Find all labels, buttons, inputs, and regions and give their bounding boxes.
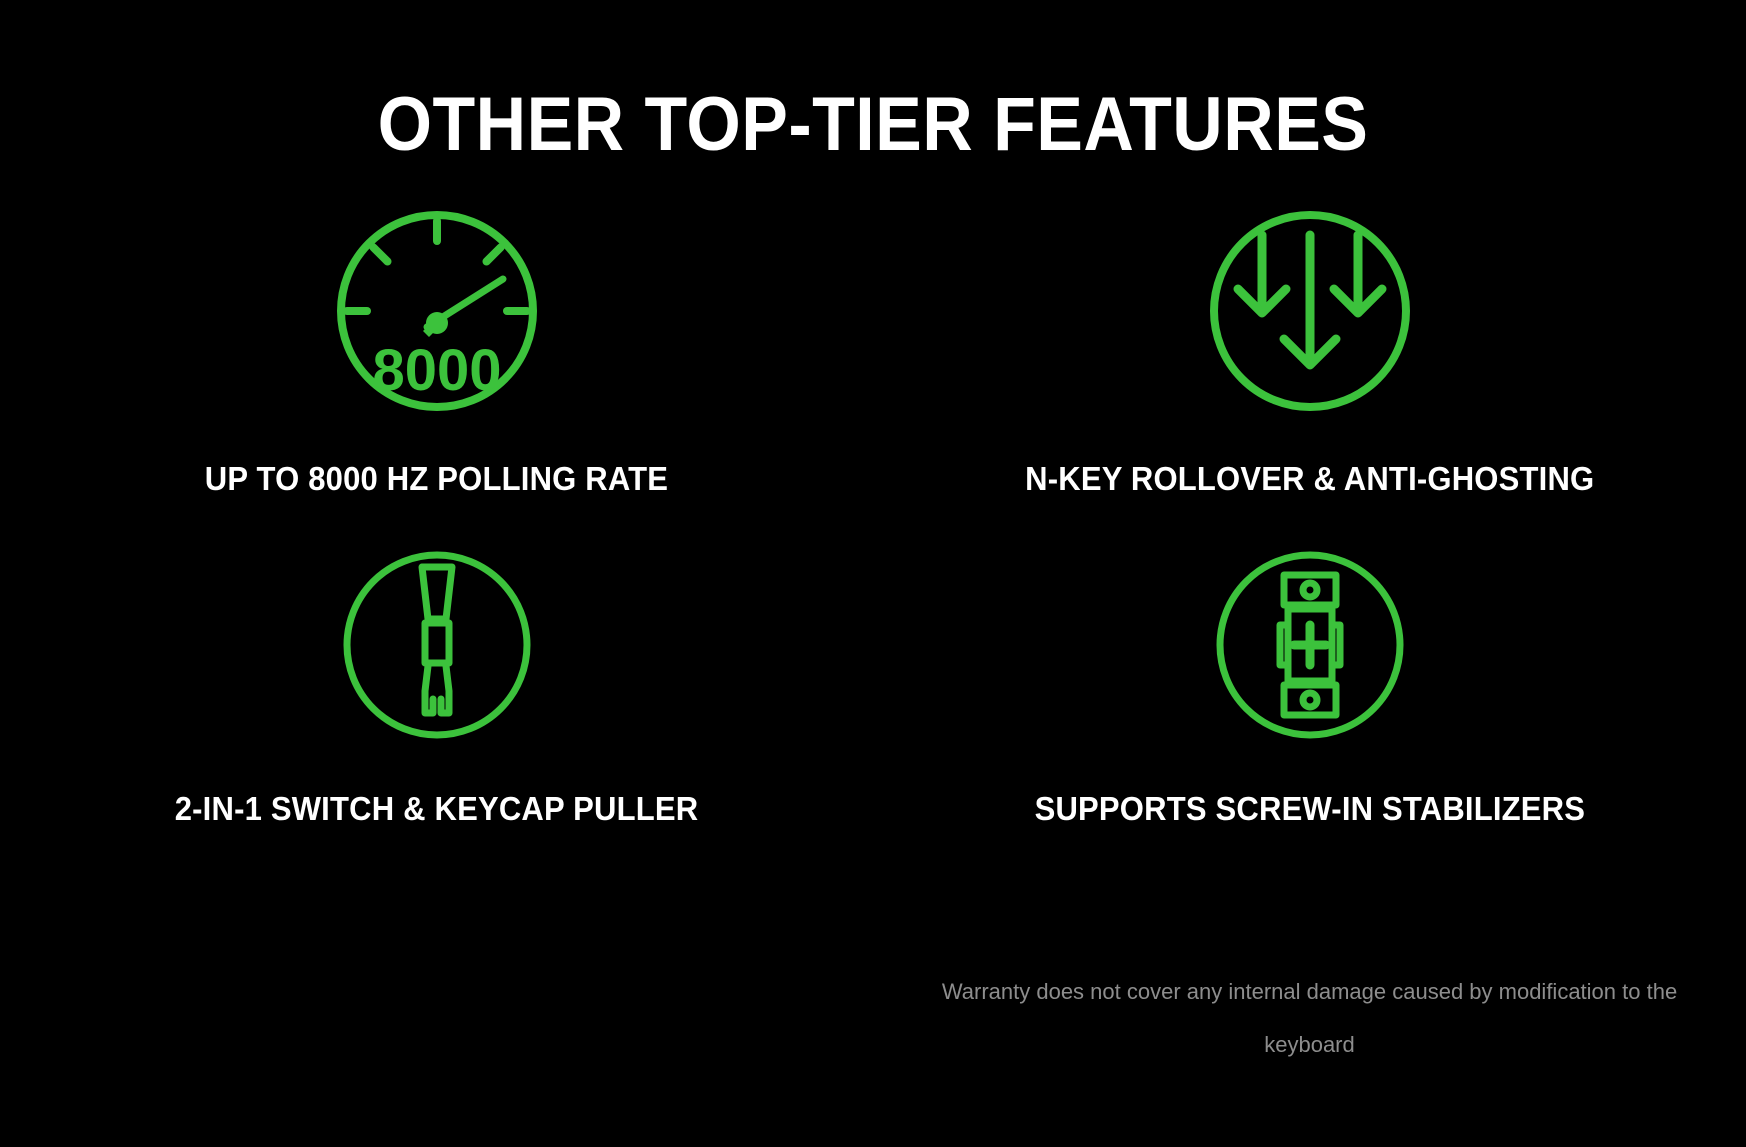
feature-item-keycap-puller: 2-IN-1 SWITCH & KEYCAP PULLER bbox=[0, 545, 873, 885]
screw-in-stabilizer-icon bbox=[1210, 545, 1410, 745]
feature-label-polling-rate: UP TO 8000 HZ POLLING RATE bbox=[205, 459, 668, 499]
features-grid: 8000 UP TO 8000 HZ POLLING RATE bbox=[0, 205, 1746, 885]
keycap-puller-icon bbox=[337, 545, 537, 745]
page-title: OTHER TOP-TIER FEATURES bbox=[70, 82, 1676, 168]
feature-item-screw-in-stabilizers: SUPPORTS SCREW-IN STABILIZERS bbox=[873, 545, 1746, 885]
feature-label-nkey-rollover: N-KEY ROLLOVER & ANTI-GHOSTING bbox=[1025, 459, 1594, 499]
feature-item-polling-rate: 8000 UP TO 8000 HZ POLLING RATE bbox=[0, 205, 873, 545]
feature-highlight-page: OTHER TOP-TIER FEATURES 8000 bbox=[0, 0, 1746, 1147]
feature-label-screw-in-stabilizers: SUPPORTS SCREW-IN STABILIZERS bbox=[1034, 789, 1585, 829]
speedometer-value: 8000 bbox=[372, 338, 501, 403]
feature-label-keycap-puller: 2-IN-1 SWITCH & KEYCAP PULLER bbox=[175, 789, 699, 829]
speedometer-icon: 8000 bbox=[331, 205, 543, 417]
warranty-disclaimer: Warranty does not cover any internal dam… bbox=[873, 965, 1746, 1071]
feature-item-nkey-rollover: N-KEY ROLLOVER & ANTI-GHOSTING bbox=[873, 205, 1746, 545]
three-down-arrows-icon bbox=[1204, 205, 1416, 417]
